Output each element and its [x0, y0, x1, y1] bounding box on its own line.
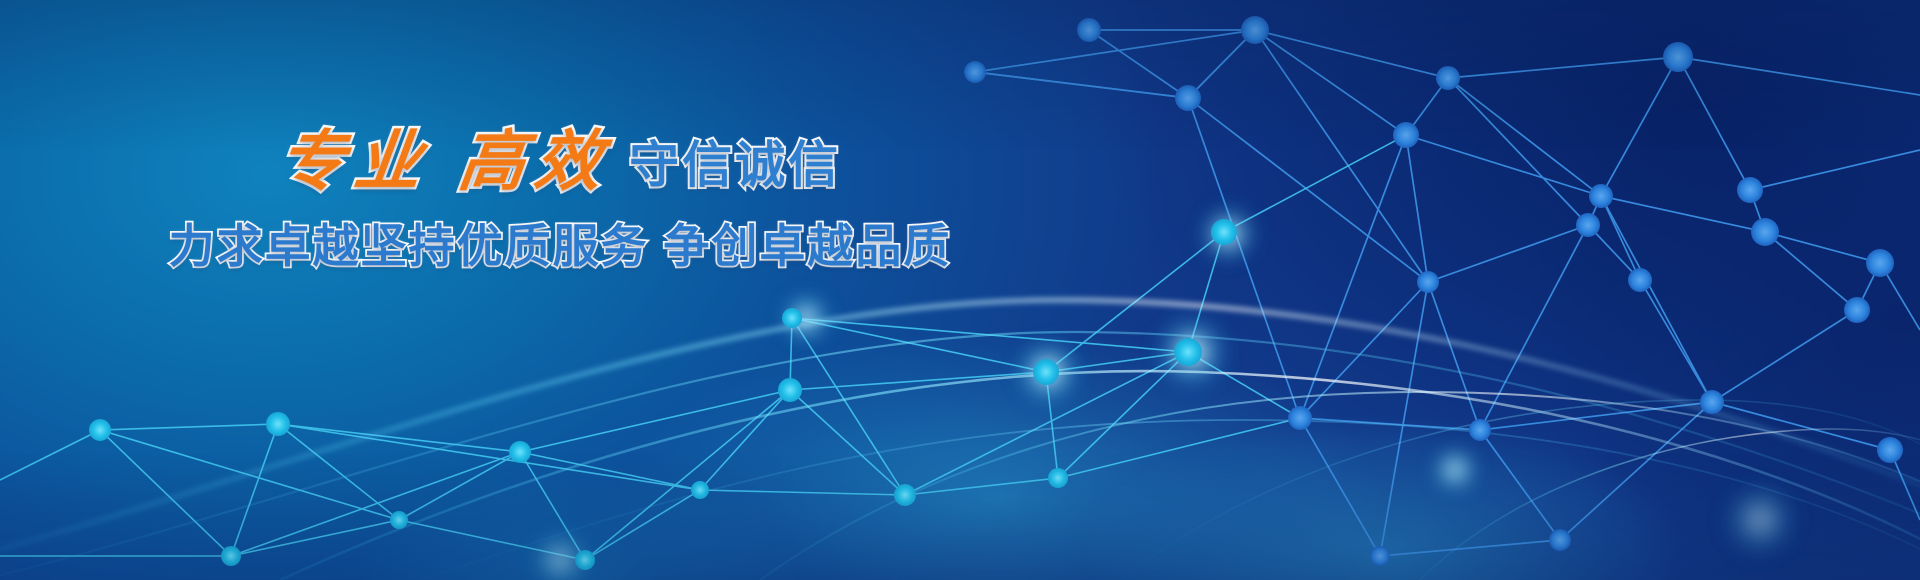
background-vignette	[0, 0, 1920, 580]
hero-banner: 专业 高效 守信诚信 力求卓越坚持优质服务 争创卓越品质	[0, 0, 1920, 580]
